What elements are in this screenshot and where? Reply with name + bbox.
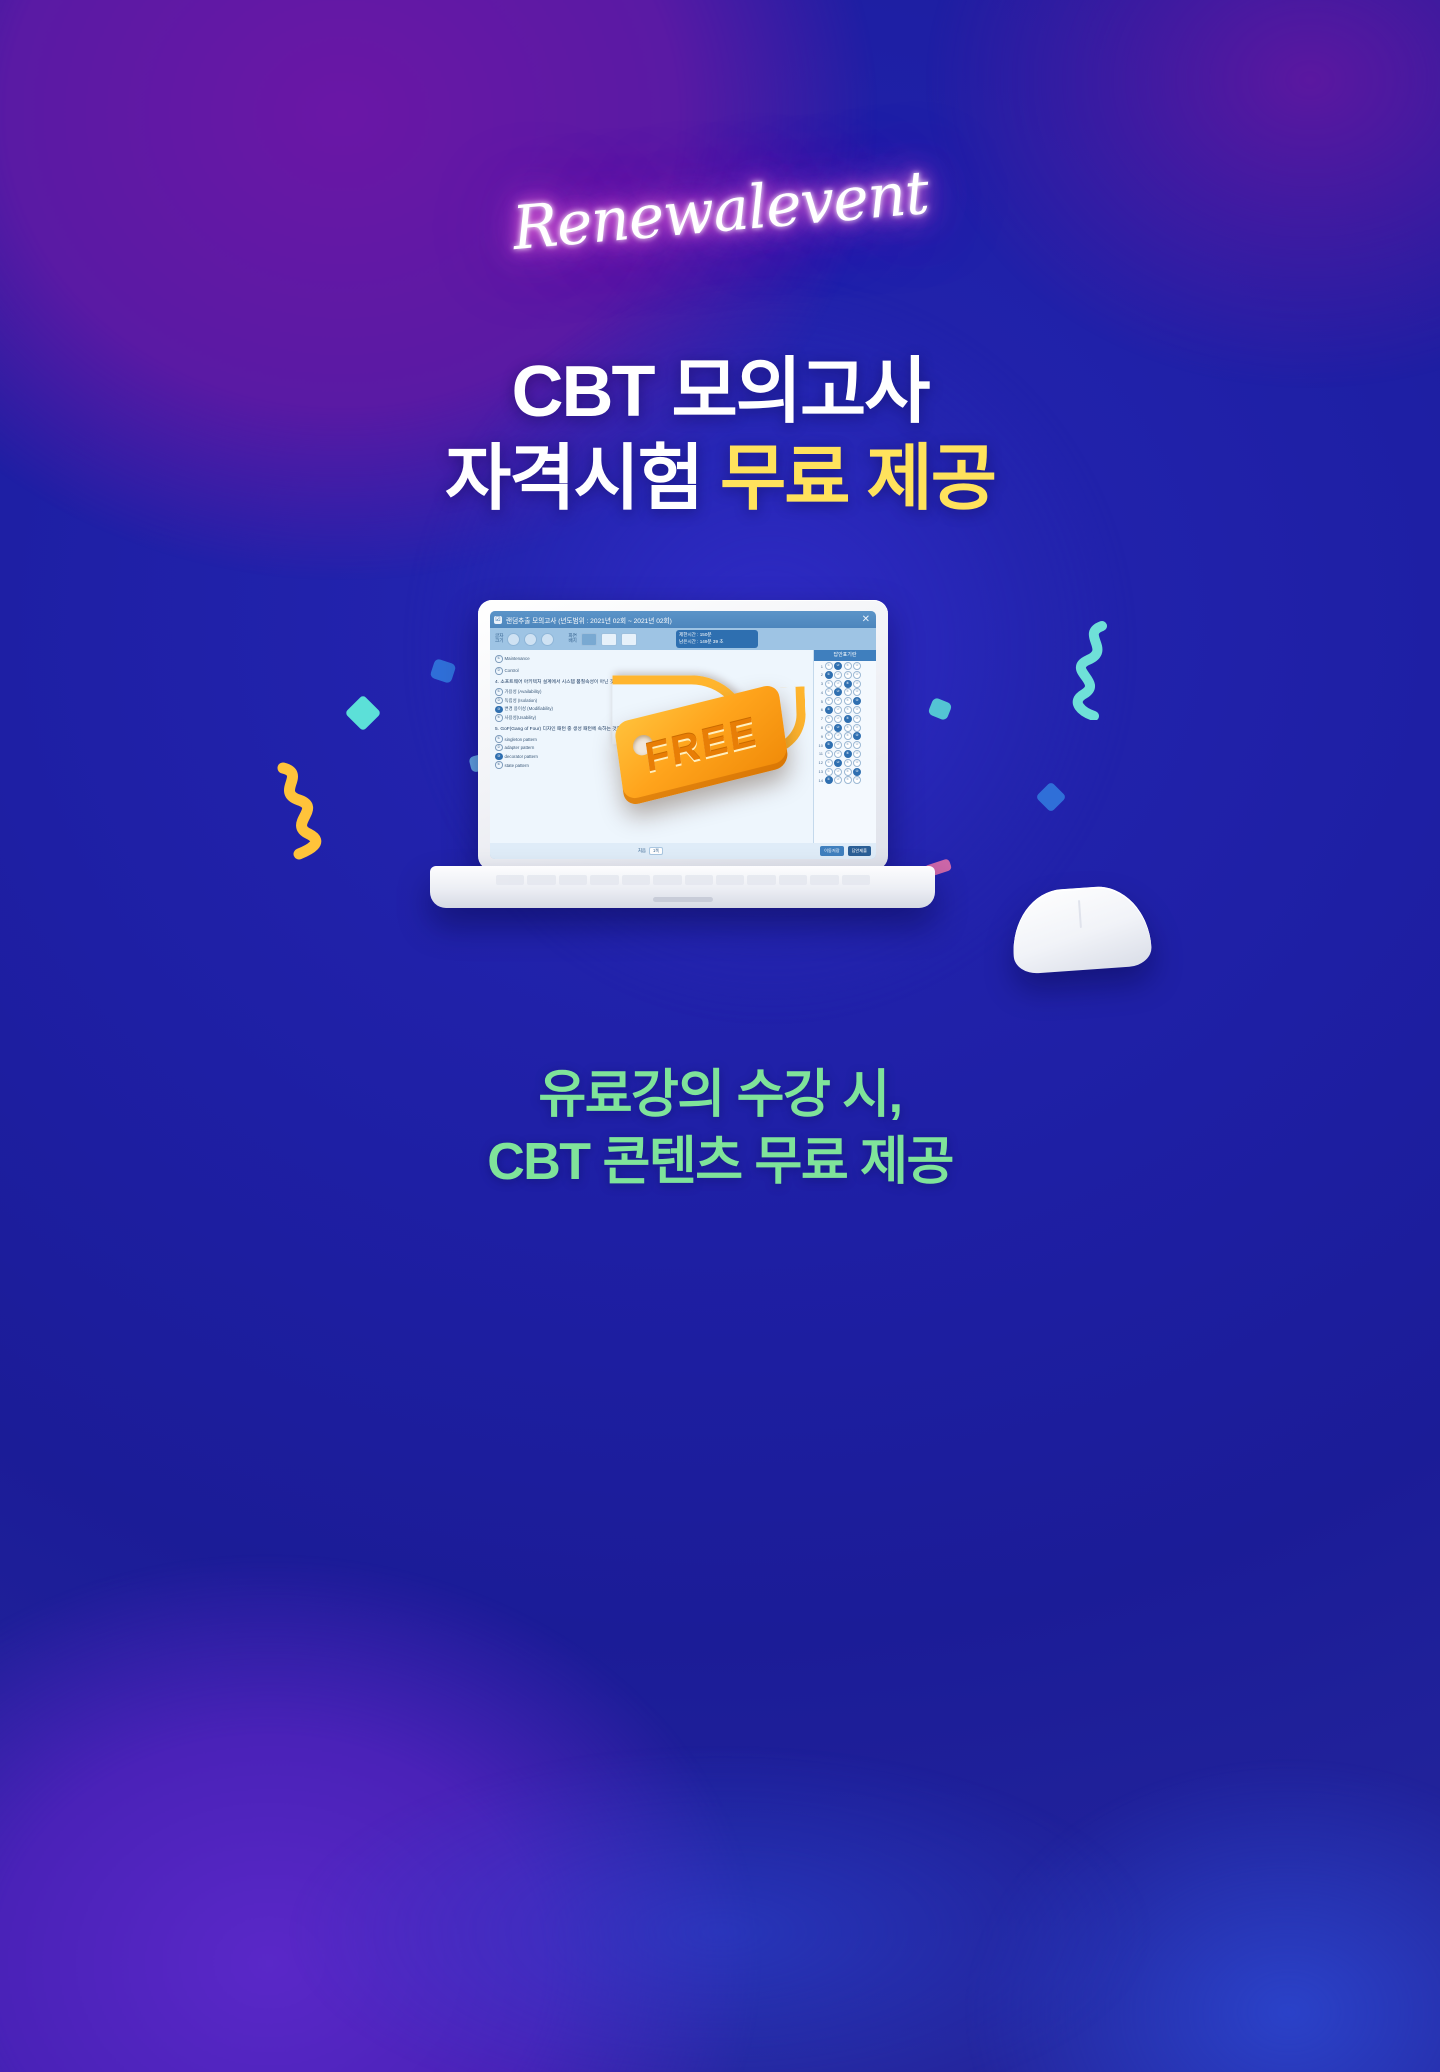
- answer-bubble[interactable]: ②: [834, 776, 842, 784]
- answer-bubble[interactable]: ②: [834, 706, 842, 714]
- answer-row-number: 3: [816, 681, 823, 686]
- answer-bubble[interactable]: ④: [853, 750, 861, 758]
- answer-sheet-row[interactable]: 5①②③④: [816, 697, 874, 705]
- font-increase-button[interactable]: [541, 633, 554, 646]
- page-select[interactable]: 1쪽: [649, 847, 663, 855]
- font-size-label: 글자크기: [495, 634, 503, 644]
- page-prev-label[interactable]: 처음: [638, 848, 646, 854]
- answer-bubble[interactable]: ③: [844, 662, 852, 670]
- option-number: ①: [495, 735, 503, 743]
- answer-sheet-row[interactable]: 6①②③④: [816, 706, 874, 714]
- answer-bubble[interactable]: ③: [844, 671, 852, 679]
- answer-sheet-row[interactable]: 11①②③④: [816, 750, 874, 758]
- answer-bubble[interactable]: ③: [844, 724, 852, 732]
- answer-bubble[interactable]: ④: [853, 724, 861, 732]
- answer-bubble[interactable]: ①: [825, 715, 833, 723]
- confetti-squiggle-yellow: [265, 760, 345, 860]
- heading-line-1: CBT 모의고사: [0, 352, 1440, 433]
- answer-bubble[interactable]: ②: [834, 768, 842, 776]
- answer-bubble[interactable]: ①: [825, 750, 833, 758]
- answer-bubble[interactable]: ①: [825, 688, 833, 696]
- answer-sheet-row[interactable]: 7①②③④: [816, 715, 874, 723]
- layout-option-3[interactable]: [621, 633, 637, 646]
- answer-bubble[interactable]: ③: [844, 732, 852, 740]
- answer-bubble[interactable]: ②: [834, 662, 842, 670]
- answer-bubble[interactable]: ②: [834, 680, 842, 688]
- answer-bubble[interactable]: ①: [825, 724, 833, 732]
- answer-bubble[interactable]: ①: [825, 680, 833, 688]
- heading-line-2: 자격시험 무료 제공: [0, 439, 1440, 520]
- font-normal-button[interactable]: [524, 633, 537, 646]
- timer-remaining: 남은시간 : 149분 39 초: [679, 639, 755, 646]
- answer-bubble[interactable]: ②: [834, 715, 842, 723]
- close-icon[interactable]: ✕: [862, 615, 872, 625]
- option-text: adapter pattern: [505, 745, 535, 750]
- answer-row-number: 4: [816, 690, 823, 695]
- answer-bubble[interactable]: ②: [834, 759, 842, 767]
- answer-bubble[interactable]: ③: [844, 768, 852, 776]
- answer-bubble[interactable]: ①: [825, 759, 833, 767]
- answer-sheet-row[interactable]: 9①②③④: [816, 732, 874, 740]
- answer-bubble[interactable]: ④: [853, 776, 861, 784]
- option-text: decorator pattern: [505, 754, 538, 759]
- answer-bubble[interactable]: ③: [844, 750, 852, 758]
- answer-bubble[interactable]: ①: [825, 741, 833, 749]
- answer-bubble[interactable]: ①: [825, 697, 833, 705]
- answer-sheet-row[interactable]: 2①②③④: [816, 671, 874, 679]
- answer-bubble[interactable]: ④: [853, 768, 861, 776]
- app-footer: 처음 1쪽 이동저장 답안제출: [490, 843, 876, 859]
- bottom-copy: 유료강의 수강 시, CBT 콘텐츠 무료 제공: [0, 1062, 1440, 1195]
- answer-bubble[interactable]: ②: [834, 671, 842, 679]
- answer-bubble[interactable]: ④: [853, 680, 861, 688]
- option-number: ④: [495, 714, 503, 722]
- exam-timer: 제한시간 : 150분 남은시간 : 149분 39 초: [676, 630, 758, 648]
- checkbox-icon: ☑: [494, 616, 502, 624]
- option-number: ②: [495, 667, 503, 675]
- answer-bubble[interactable]: ③: [844, 697, 852, 705]
- option-text: 독립성 (Isolation): [505, 698, 538, 704]
- option-text: 가용성 (Availability): [505, 689, 542, 695]
- option-number: ①: [495, 655, 503, 663]
- answer-bubble[interactable]: ①: [825, 671, 833, 679]
- option-text: state pattern: [505, 763, 529, 768]
- app-title-bar: ☑ 랜덤추출 모의고사 (년도범위 : 2021년 02회 ~ 2021년 02…: [490, 611, 876, 628]
- submit-button[interactable]: 답안제출: [848, 846, 871, 856]
- laptop-lid: ☑ 랜덤추출 모의고사 (년도범위 : 2021년 02회 ~ 2021년 02…: [478, 600, 888, 870]
- answer-bubble[interactable]: ②: [834, 697, 842, 705]
- option-text: singleton pattern: [505, 737, 537, 742]
- answer-bubble[interactable]: ①: [825, 706, 833, 714]
- laptop-screen: ☑ 랜덤추출 모의고사 (년도범위 : 2021년 02회 ~ 2021년 02…: [490, 611, 876, 859]
- option-text: 사용성(Usability): [505, 715, 537, 721]
- option-number: ③: [495, 706, 503, 714]
- answer-sheet-row[interactable]: 3①②③④: [816, 680, 874, 688]
- free-tag-graphic: FREE: [601, 645, 830, 823]
- layout-option-2[interactable]: [601, 633, 617, 646]
- answer-bubble[interactable]: ②: [834, 688, 842, 696]
- answer-bubble[interactable]: ③: [844, 680, 852, 688]
- laptop-illustration: ☑ 랜덤추출 모의고사 (년도범위 : 2021년 02회 ~ 2021년 02…: [430, 600, 935, 990]
- answer-bubble[interactable]: ④: [853, 741, 861, 749]
- heading-line-2-highlight: 무료 제공: [720, 439, 995, 519]
- pager: 처음 1쪽: [638, 847, 663, 855]
- timer-total: 제한시간 : 150분: [679, 632, 755, 639]
- answer-bubble[interactable]: ②: [834, 732, 842, 740]
- option-number: ②: [495, 744, 503, 752]
- option-text: Maintenance: [505, 656, 530, 661]
- answer-row-number: 5: [816, 699, 823, 704]
- answer-sheet-row[interactable]: 8①②③④: [816, 724, 874, 732]
- answer-row-number: 1: [816, 664, 823, 669]
- answer-row-number: 2: [816, 672, 823, 677]
- answer-bubble[interactable]: ①: [825, 732, 833, 740]
- answer-bubble[interactable]: ④: [853, 732, 861, 740]
- option-text: 변경 용이성 (Modifiability): [505, 706, 554, 712]
- answer-bubble[interactable]: ②: [834, 750, 842, 758]
- answer-bubble[interactable]: ④: [853, 688, 861, 696]
- layout-option-1[interactable]: [581, 633, 597, 646]
- answer-bubble[interactable]: ③: [844, 706, 852, 714]
- option-number: ①: [495, 688, 503, 696]
- heading-line-2-plain: 자격시험: [445, 439, 720, 519]
- answer-bubble[interactable]: ④: [853, 715, 861, 723]
- layout-label: 화면배치: [568, 634, 576, 644]
- main-heading: CBT 모의고사 자격시험 무료 제공: [0, 352, 1440, 519]
- option-text: Control: [505, 668, 519, 673]
- answer-sheet-row[interactable]: 10①②③④: [816, 741, 874, 749]
- answer-bubble[interactable]: ④: [853, 759, 861, 767]
- confetti-squiggle-teal: [1060, 620, 1140, 720]
- bottom-line-2: CBT 콘텐츠 무료 제공: [0, 1129, 1440, 1196]
- app-title: 랜덤추출 모의고사 (년도범위 : 2021년 02회 ~ 2021년 02회): [506, 615, 672, 625]
- answer-bubble[interactable]: ③: [844, 759, 852, 767]
- banner-root: Renewalevent CBT 모의고사 자격시험 무료 제공 ☑ 랜덤추출 …: [0, 0, 1440, 2072]
- answer-sheet-row[interactable]: 4①②③④: [816, 688, 874, 696]
- answer-bubble[interactable]: ④: [853, 671, 861, 679]
- answer-bubble[interactable]: ③: [844, 776, 852, 784]
- answer-sheet-row[interactable]: 1①②③④: [816, 662, 874, 670]
- answer-bubble[interactable]: ①: [825, 662, 833, 670]
- option-number: ③: [495, 753, 503, 761]
- option-number: ④: [495, 761, 503, 769]
- laptop-keyboard: [496, 872, 870, 888]
- answer-sheet-header: 답안표기란: [814, 650, 876, 661]
- answer-bubble[interactable]: ②: [834, 724, 842, 732]
- answer-bubble[interactable]: ③: [844, 741, 852, 749]
- answer-bubble[interactable]: ②: [834, 741, 842, 749]
- font-decrease-button[interactable]: [507, 633, 520, 646]
- bottom-line-1: 유료강의 수강 시,: [0, 1062, 1440, 1129]
- answer-bubble[interactable]: ③: [844, 688, 852, 696]
- answer-bubble[interactable]: ④: [853, 706, 861, 714]
- option-number: ②: [495, 697, 503, 705]
- answer-bubble[interactable]: ④: [853, 662, 861, 670]
- answer-bubble[interactable]: ④: [853, 697, 861, 705]
- save-button[interactable]: 이동저장: [820, 846, 843, 856]
- answer-bubble[interactable]: ③: [844, 715, 852, 723]
